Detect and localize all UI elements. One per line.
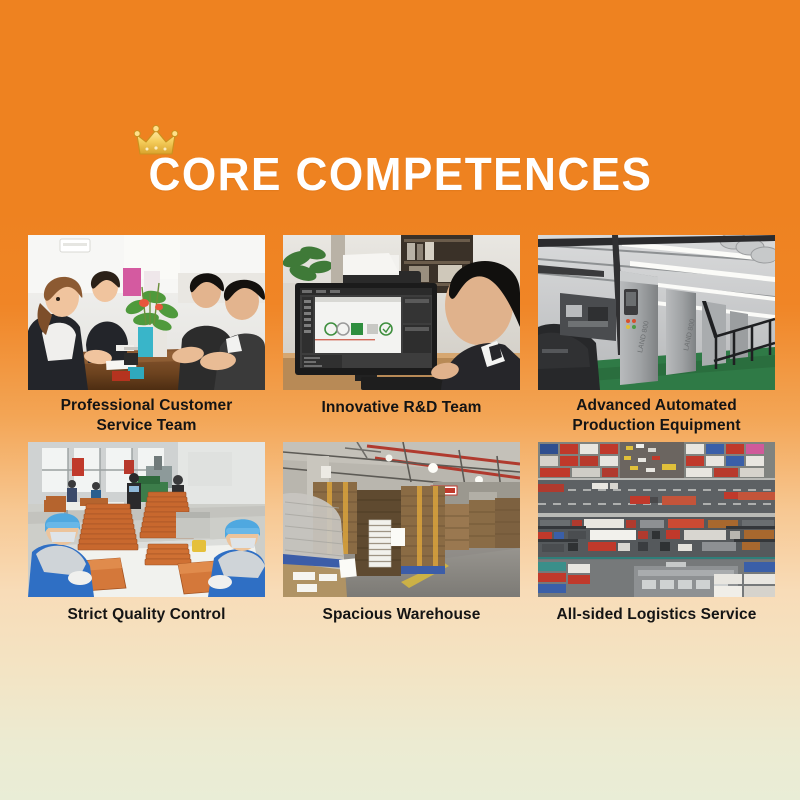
- caption-line-1: All-sided Logistics Service: [538, 605, 775, 625]
- core-competences-banner: CORE COMPETENCES: [0, 0, 800, 800]
- competence-card-strict-quality-control[interactable]: Strict Quality Control: [28, 442, 265, 625]
- designer-at-computer-photo: [283, 235, 520, 390]
- competence-card-spacious-warehouse[interactable]: Spacious Warehouse: [283, 442, 520, 625]
- competence-card-professional-customer-service-team[interactable]: Professional Customer Service Team: [28, 235, 265, 436]
- quality-inspection-photo: [28, 442, 265, 597]
- caption-line-1: Spacious Warehouse: [283, 605, 520, 625]
- warehouse-photo: [283, 442, 520, 597]
- caption-line-1: Innovative R&D Team: [283, 398, 520, 418]
- printing-press-photo: LAND 800 LAND 800: [538, 235, 775, 390]
- caption-line-1: Advanced Automated: [538, 396, 775, 416]
- card-caption: Innovative R&D Team: [283, 398, 520, 418]
- caption-line-2: Service Team: [28, 416, 265, 436]
- meeting-room-photo: [28, 235, 265, 390]
- card-caption: Spacious Warehouse: [283, 605, 520, 625]
- card-caption: Strict Quality Control: [28, 605, 265, 625]
- page-title: CORE COMPETENCES: [148, 150, 652, 198]
- caption-line-2: Production Equipment: [538, 416, 775, 436]
- card-caption: All-sided Logistics Service: [538, 605, 775, 625]
- competence-card-innovative-rd-team[interactable]: Innovative R&D Team: [283, 235, 520, 436]
- caption-line-1: Strict Quality Control: [28, 605, 265, 625]
- competence-grid: Professional Customer Service Team: [28, 235, 776, 624]
- competence-card-advanced-automated-production-equipment[interactable]: LAND 800 LAND 800: [538, 235, 775, 436]
- caption-line-1: Professional Customer: [28, 396, 265, 416]
- card-caption: Professional Customer Service Team: [28, 396, 265, 436]
- card-caption: Advanced Automated Production Equipment: [538, 396, 775, 436]
- competence-card-all-sided-logistics-service[interactable]: All-sided Logistics Service: [538, 442, 775, 625]
- title-section: CORE COMPETENCES: [0, 150, 800, 198]
- container-port-aerial-photo: [538, 442, 775, 597]
